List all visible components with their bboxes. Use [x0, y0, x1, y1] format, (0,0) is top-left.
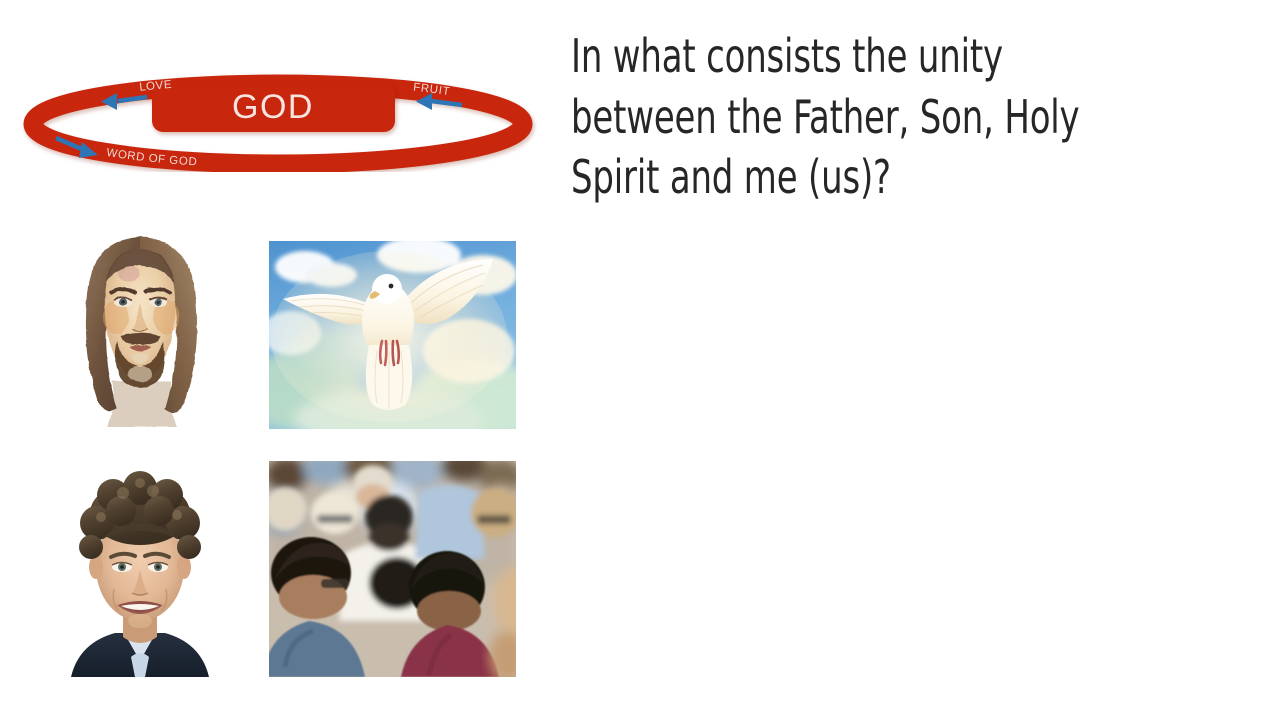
slide-canvas: GOD LOVE FRUIT WORD OF GOD [0, 0, 1280, 720]
image-jesus-watercolor [67, 231, 214, 427]
unity-cycle-diagram: GOD LOVE FRUIT WORD OF GOD [18, 72, 538, 172]
image-man-portrait [61, 461, 219, 677]
image-crowd [269, 461, 516, 677]
god-label: GOD [232, 88, 314, 126]
image-white-dove [269, 241, 516, 429]
question-text: In what consists the unity between the F… [571, 26, 1122, 208]
